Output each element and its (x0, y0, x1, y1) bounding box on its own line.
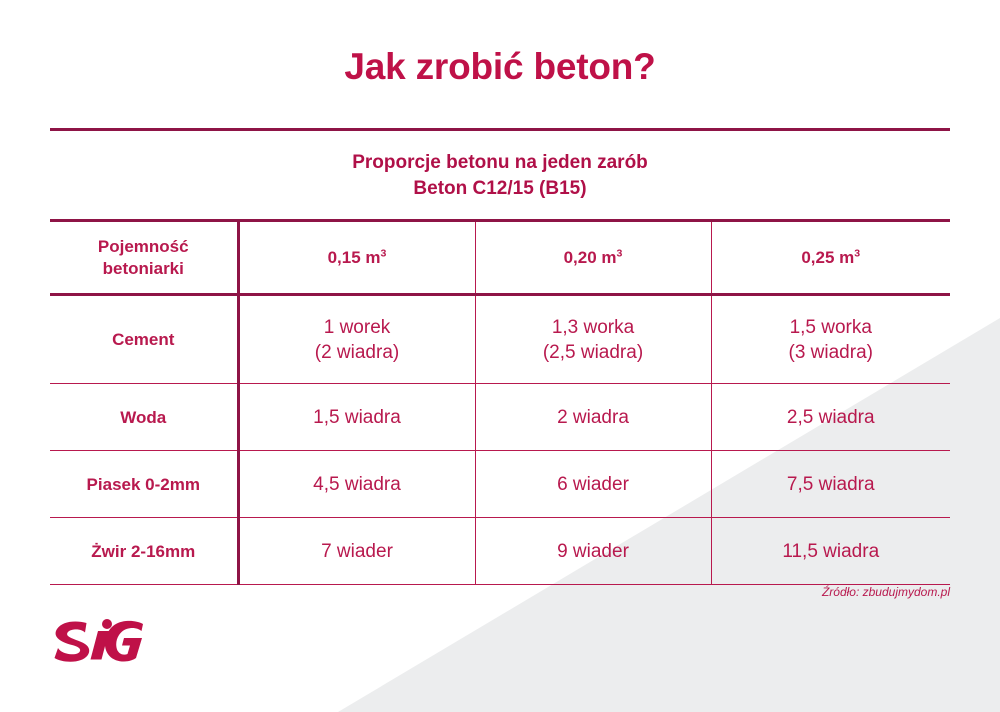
header-volume-2-exponent: 3 (617, 247, 623, 259)
header-cell-capacity: Pojemność betoniarki (50, 221, 238, 295)
cell-woda-0.25: 2,5 wiadra (711, 384, 950, 451)
cell-secondary: (3 wiadra) (712, 340, 951, 365)
table-row: Piasek 0-2mm 4,5 wiadra 6 wiader 7,5 wia… (50, 451, 950, 518)
cell-woda-0.15: 1,5 wiadra (238, 384, 475, 451)
header-cell-volume-3: 0,25 m3 (711, 221, 950, 295)
row-label-zwir: Żwir 2-16mm (50, 518, 238, 585)
sig-logo (50, 618, 150, 664)
subtitle-line-1: Proporcje betonu na jeden zarób (0, 150, 1000, 176)
cell-primary: 1 worek (240, 315, 475, 340)
source-attribution: Źródło: zbudujmydom.pl (822, 585, 950, 599)
subtitle: Proporcje betonu na jeden zarób Beton C1… (0, 150, 1000, 202)
row-label-woda: Woda (50, 384, 238, 451)
header-capacity-line-1: Pojemność (50, 236, 237, 258)
header-volume-2-unit: m (601, 248, 616, 267)
header-volume-3-value: 0,25 (801, 248, 834, 267)
cell-zwir-0.20: 9 wiader (475, 518, 711, 585)
row-label-cement: Cement (50, 295, 238, 384)
table-header-row: Pojemność betoniarki 0,15 m3 0,20 m3 0,2… (50, 221, 950, 295)
concrete-proportions-table: Pojemność betoniarki 0,15 m3 0,20 m3 0,2… (50, 219, 950, 585)
cell-piasek-0.25: 7,5 wiadra (711, 451, 950, 518)
header-capacity-line-2: betoniarki (50, 258, 237, 280)
cell-cement-0.15: 1 worek (2 wiadra) (238, 295, 475, 384)
cell-zwir-0.15: 7 wiader (238, 518, 475, 585)
row-label-piasek: Piasek 0-2mm (50, 451, 238, 518)
cell-primary: 1,3 worka (476, 315, 711, 340)
header-volume-3-unit: m (839, 248, 854, 267)
header-cell-volume-2: 0,20 m3 (475, 221, 711, 295)
table-row: Cement 1 worek (2 wiadra) 1,3 worka (2,5… (50, 295, 950, 384)
infographic-page: Jak zrobić beton? Proporcje betonu na je… (0, 0, 1000, 712)
table-row: Żwir 2-16mm 7 wiader 9 wiader 11,5 wiadr… (50, 518, 950, 585)
header-volume-1-exponent: 3 (381, 247, 387, 259)
cell-cement-0.20: 1,3 worka (2,5 wiadra) (475, 295, 711, 384)
cell-secondary: (2,5 wiadra) (476, 340, 711, 365)
cell-woda-0.20: 2 wiadra (475, 384, 711, 451)
header-volume-1-value: 0,15 (328, 248, 361, 267)
header-volume-1-unit: m (365, 248, 380, 267)
cell-zwir-0.25: 11,5 wiadra (711, 518, 950, 585)
header-volume-2-value: 0,20 (564, 248, 597, 267)
cell-secondary: (2 wiadra) (240, 340, 475, 365)
title-divider-rule (50, 128, 950, 131)
cell-cement-0.25: 1,5 worka (3 wiadra) (711, 295, 950, 384)
subtitle-line-2: Beton C12/15 (B15) (0, 176, 1000, 202)
page-title: Jak zrobić beton? (0, 46, 1000, 88)
table-row: Woda 1,5 wiadra 2 wiadra 2,5 wiadra (50, 384, 950, 451)
cell-primary: 1,5 worka (712, 315, 951, 340)
cell-piasek-0.20: 6 wiader (475, 451, 711, 518)
header-volume-3-exponent: 3 (854, 247, 860, 259)
cell-piasek-0.15: 4,5 wiadra (238, 451, 475, 518)
header-cell-volume-1: 0,15 m3 (238, 221, 475, 295)
